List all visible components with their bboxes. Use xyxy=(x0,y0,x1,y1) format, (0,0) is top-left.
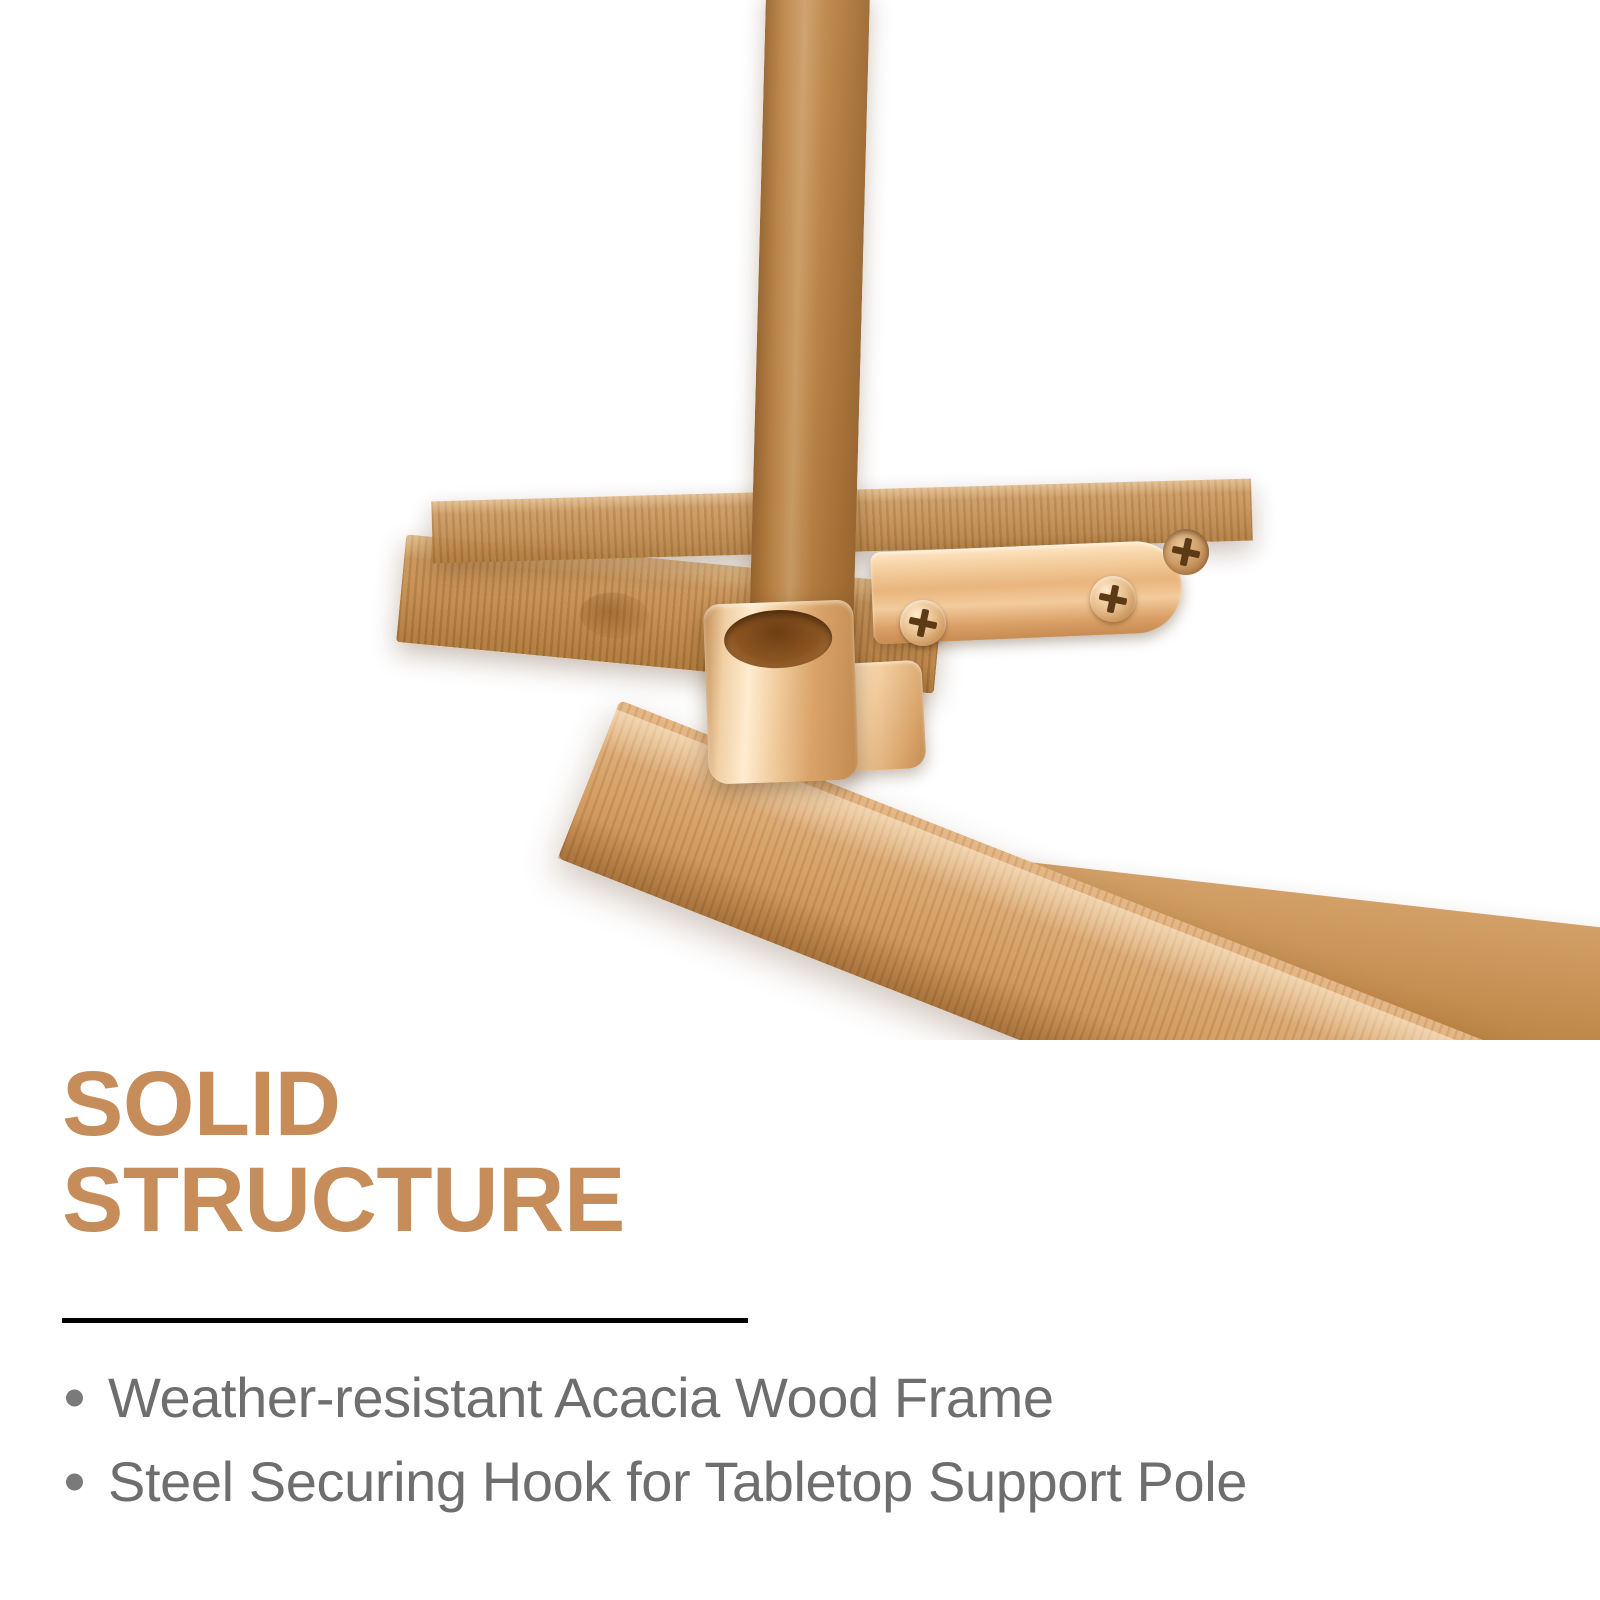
list-item: Steel Securing Hook for Tabletop Support… xyxy=(62,1440,1542,1524)
product-feature-card: SOLID STRUCTURE Weather-resistant Acacia… xyxy=(0,0,1600,1600)
bullet-dot xyxy=(66,1474,83,1491)
round-support-pole xyxy=(748,0,870,681)
collar-opening xyxy=(723,608,833,670)
feature-label: Steel Securing Hook for Tabletop Support… xyxy=(108,1450,1247,1513)
phillips-screw xyxy=(1090,576,1136,622)
feature-text-block: SOLID STRUCTURE Weather-resistant Acacia… xyxy=(0,1040,1600,1600)
bullet-dot xyxy=(66,1390,83,1407)
feature-list: Weather-resistant Acacia Wood Frame Stee… xyxy=(62,1356,1542,1524)
wood-knot xyxy=(578,589,652,641)
title-divider xyxy=(62,1318,748,1323)
feature-label: Weather-resistant Acacia Wood Frame xyxy=(108,1366,1054,1429)
list-item: Weather-resistant Acacia Wood Frame xyxy=(62,1356,1542,1440)
phillips-screw xyxy=(900,600,946,646)
phillips-screw-sunk xyxy=(1163,529,1209,575)
page-title: SOLID STRUCTURE xyxy=(62,1056,1162,1248)
steel-collar-clamp xyxy=(703,599,859,784)
